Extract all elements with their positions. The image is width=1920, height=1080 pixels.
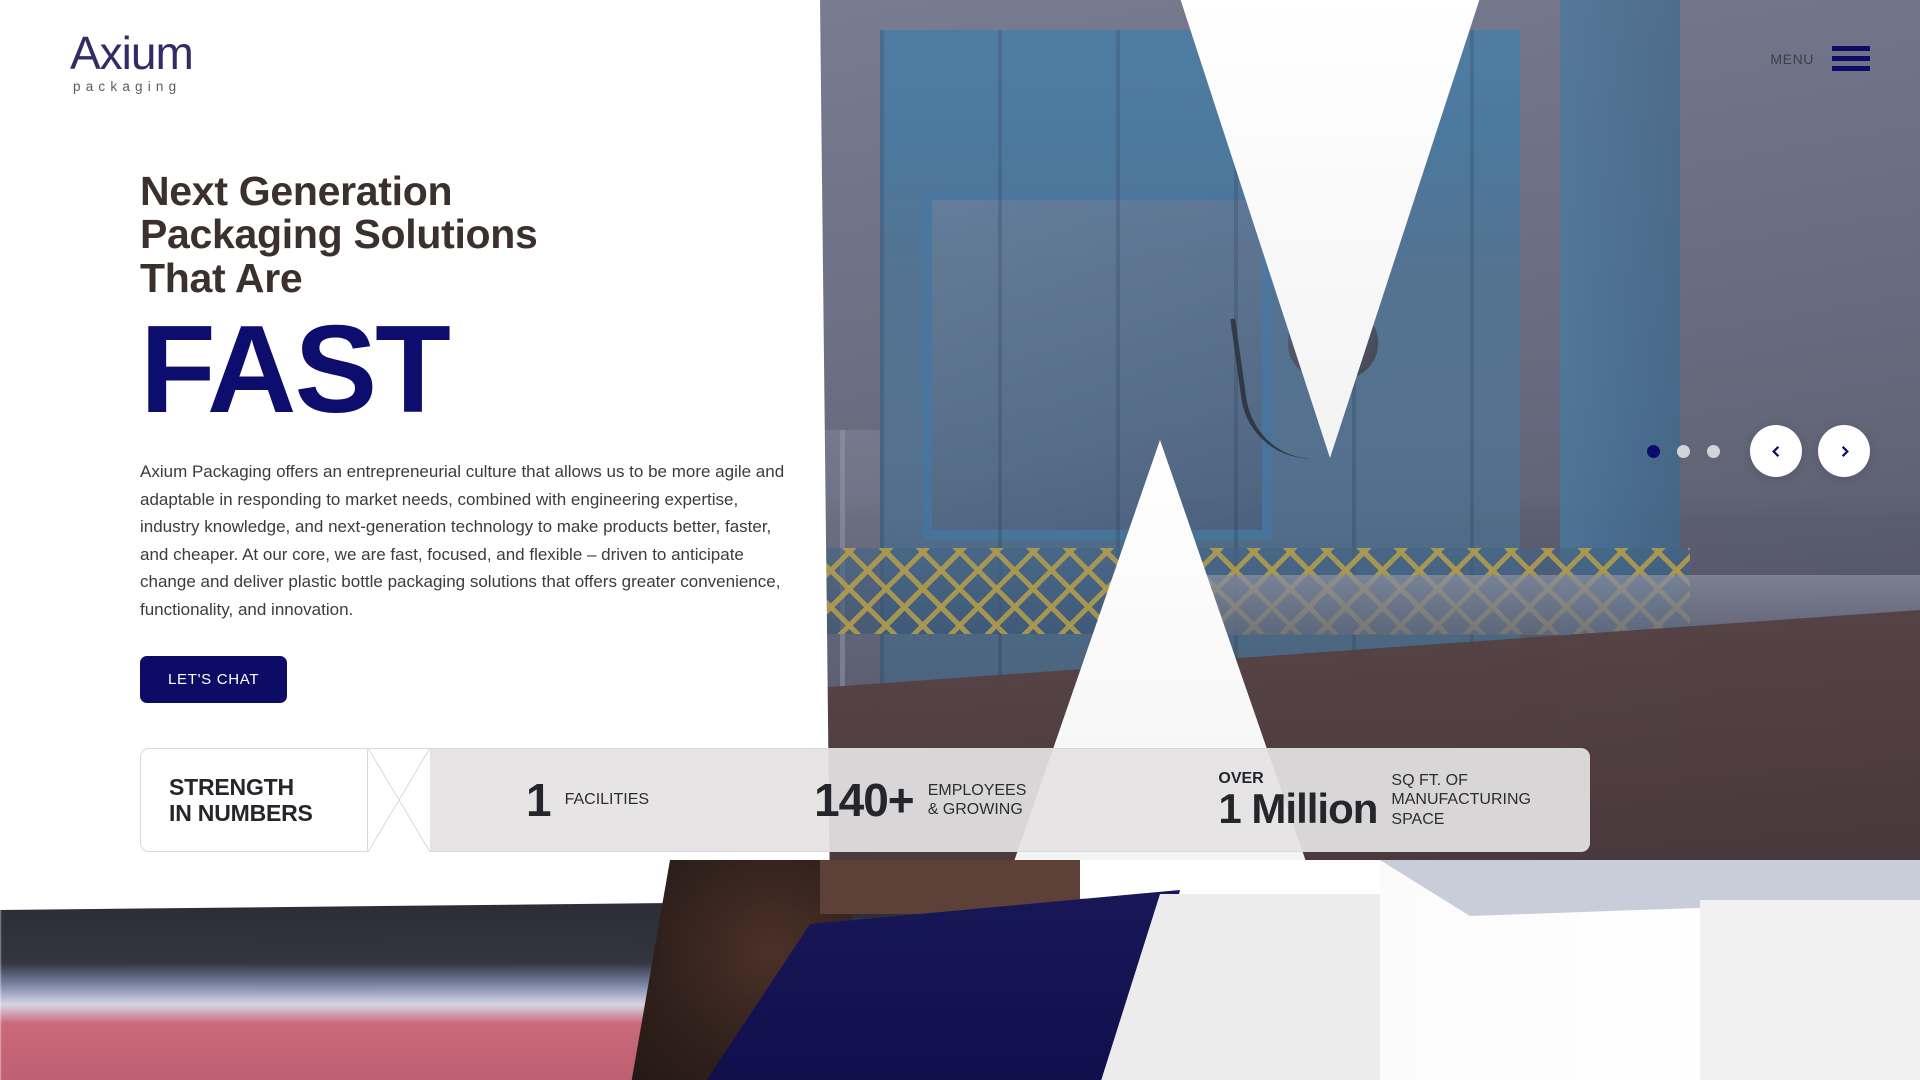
x-divider-icon xyxy=(368,748,430,852)
stat-item-square-footage: OVER 1 Million SQ FT. OF MANUFACTURING S… xyxy=(1218,771,1531,830)
stats-values-panel: 1 FACILITIES 140+ EMPLOYEES & GROWING OV… xyxy=(430,748,1590,852)
carousel-controls xyxy=(1647,425,1870,477)
stat-number-group: OVER 1 Million xyxy=(1218,771,1377,830)
stat-item-employees: 140+ EMPLOYEES & GROWING xyxy=(814,773,1026,827)
lower-right-fill xyxy=(1700,900,1920,1080)
headline-accent-word: FAST xyxy=(140,308,830,432)
stat-label: SQ FT. OF MANUFACTURING SPACE xyxy=(1391,771,1531,829)
stat-label-line-2: MANUFACTURING xyxy=(1391,790,1531,809)
hero-paragraph: Axium Packaging offers an entrepreneuria… xyxy=(140,458,795,623)
stats-title-line-1: STRENGTH xyxy=(169,774,313,800)
page-title: Next Generation Packaging Solutions That… xyxy=(140,170,830,300)
stats-x-divider xyxy=(368,748,430,852)
stat-label-line-1: SQ FT. OF xyxy=(1391,771,1531,790)
carousel-dot-3[interactable] xyxy=(1707,445,1720,458)
menu-button[interactable]: MENU xyxy=(1770,46,1870,71)
stat-label: EMPLOYEES & GROWING xyxy=(928,781,1027,819)
stat-label-line-1: FACILITIES xyxy=(565,790,649,809)
hamburger-icon[interactable] xyxy=(1832,46,1870,71)
carousel-dot-1[interactable] xyxy=(1647,445,1660,458)
logo-tagline: packaging xyxy=(73,79,230,94)
stat-number: 140+ xyxy=(814,773,914,827)
stat-item-facilities: 1 FACILITIES xyxy=(526,773,649,827)
headline-line-3: That Are xyxy=(140,257,830,300)
hero-section: Axium packaging MENU Next Generation Pac… xyxy=(0,0,1920,900)
stat-label-line-3: SPACE xyxy=(1391,810,1531,829)
chevron-left-icon xyxy=(1769,444,1784,459)
stats-title: STRENGTH IN NUMBERS xyxy=(169,774,313,827)
stats-strip: STRENGTH IN NUMBERS 1 FACILITIES xyxy=(140,748,1590,852)
logo-wordmark: Axium xyxy=(70,30,230,76)
carousel-next-button[interactable] xyxy=(1818,425,1870,477)
stat-number: 1 xyxy=(526,773,551,827)
site-header: Axium packaging MENU xyxy=(0,0,1920,140)
hero-copy: Next Generation Packaging Solutions That… xyxy=(140,170,830,703)
headline-line-2: Packaging Solutions xyxy=(140,213,830,256)
carousel-prev-button[interactable] xyxy=(1750,425,1802,477)
page-root: Axium packaging MENU Next Generation Pac… xyxy=(0,0,1920,1080)
stat-label-line-1: EMPLOYEES xyxy=(928,781,1027,800)
stats-title-panel: STRENGTH IN NUMBERS xyxy=(140,748,368,852)
stats-title-line-2: IN NUMBERS xyxy=(169,800,313,826)
lets-chat-button[interactable]: LET'S CHAT xyxy=(140,656,287,703)
stat-label-line-2: & GROWING xyxy=(928,800,1027,819)
carousel-dot-2[interactable] xyxy=(1677,445,1690,458)
carousel-dots xyxy=(1647,445,1720,458)
stat-label: FACILITIES xyxy=(565,790,649,809)
chevron-right-icon xyxy=(1837,444,1852,459)
site-logo[interactable]: Axium packaging xyxy=(70,30,230,94)
headline-line-1: Next Generation xyxy=(140,170,830,213)
menu-label: MENU xyxy=(1770,51,1814,67)
stat-number: 1 Million xyxy=(1218,788,1377,830)
next-section-preview xyxy=(0,860,1920,1080)
